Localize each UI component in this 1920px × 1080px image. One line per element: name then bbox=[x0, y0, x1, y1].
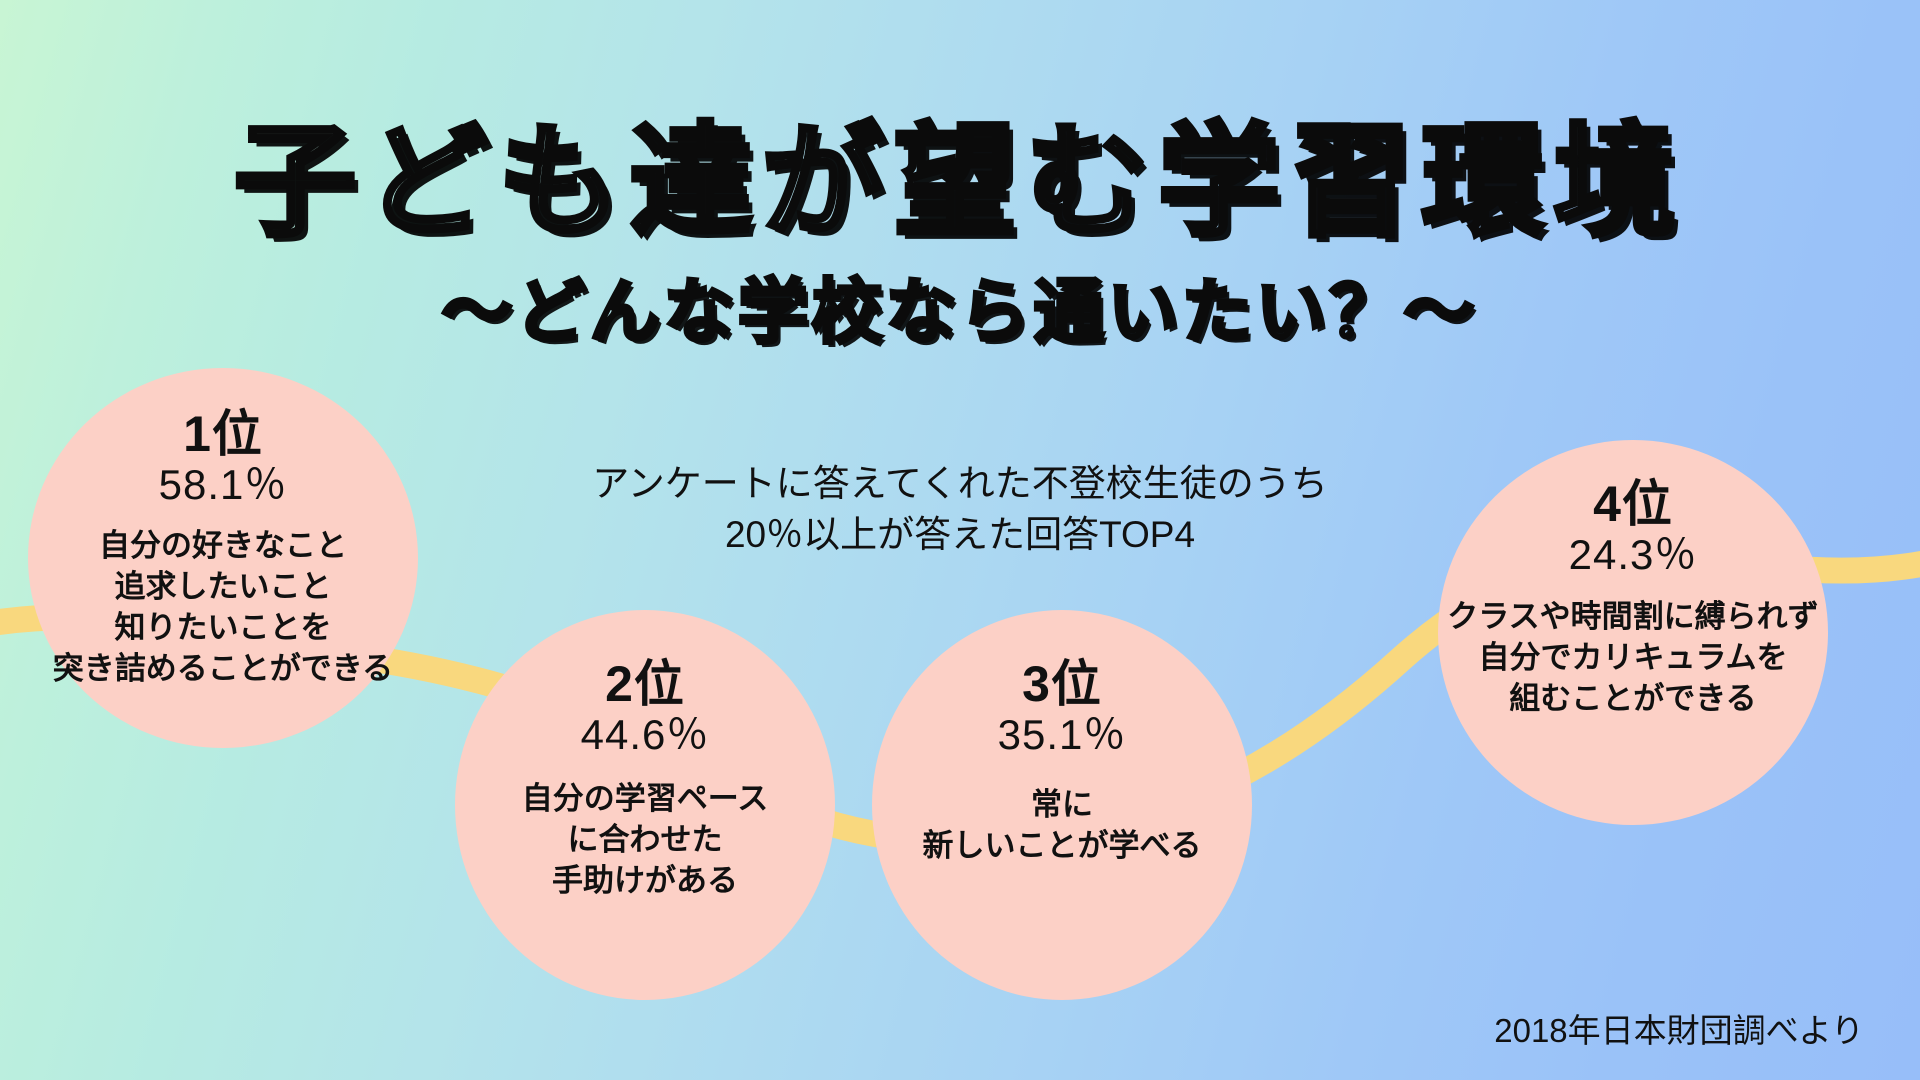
rank-bubble-1: 1位 58.1％ 自分の好きなこと 追求したいこと 知りたいことを 突き詰めるこ… bbox=[28, 368, 418, 748]
rank-label-2: 2位 bbox=[605, 658, 685, 711]
rank-label-1: 1位 bbox=[183, 408, 263, 461]
title-block: 子ども達が望む学習環境 〜どんな学校なら通いたい？〜 bbox=[0, 118, 1920, 357]
rank-description-3: 常に 新しいことが学べる bbox=[923, 785, 1202, 867]
rank-label-4: 4位 bbox=[1593, 478, 1673, 531]
rank-percent-4: 24.3％ bbox=[1569, 531, 1698, 579]
rank-label-3: 3位 bbox=[1022, 658, 1102, 711]
rank-bubble-4: 4位 24.3％ クラスや時間割に縛られず 自分でカリキュラムを 組むことができ… bbox=[1438, 440, 1828, 825]
rank-description-1: 自分の好きなこと 追求したいこと 知りたいことを 突き詰めることができる bbox=[53, 526, 393, 690]
survey-note-line1: アンケートに答えてくれた不登校生徒のうち bbox=[560, 458, 1360, 509]
rank-percent-2: 44.6％ bbox=[581, 711, 710, 759]
rank-bubble-2: 2位 44.6％ 自分の学習ペース に合わせた 手助けがある bbox=[455, 610, 835, 1000]
rank-percent-1: 58.1％ bbox=[159, 461, 288, 509]
page-title: 子ども達が望む学習環境 bbox=[0, 118, 1920, 246]
page-subtitle: 〜どんな学校なら通いたい？〜 bbox=[0, 256, 1920, 357]
survey-note-line2: 20％以上が答えた回答TOP4 bbox=[560, 509, 1360, 560]
rank-percent-3: 35.1％ bbox=[998, 711, 1127, 759]
rank-description-4: クラスや時間割に縛られず 自分でカリキュラムを 組むことができる bbox=[1447, 597, 1818, 720]
rank-description-2: 自分の学習ペース に合わせた 手助けがある bbox=[522, 779, 768, 902]
source-credit: 2018年日本財団調べより bbox=[1494, 1004, 1864, 1052]
rank-bubble-3: 3位 35.1％ 常に 新しいことが学べる bbox=[872, 610, 1252, 1000]
survey-note: アンケートに答えてくれた不登校生徒のうち 20％以上が答えた回答TOP4 bbox=[560, 458, 1360, 560]
